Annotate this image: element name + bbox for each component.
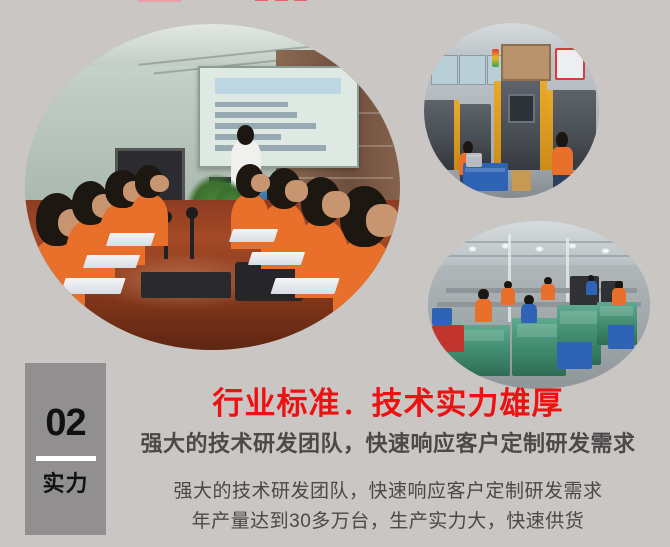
body-line: 年产量达到30多万台，生产实力大，快速供货 bbox=[106, 507, 670, 537]
decoration-dash bbox=[275, 0, 288, 1]
badge-label: 实力 bbox=[42, 473, 88, 495]
body-text: 强大的技术研发团队，快速响应客户定制研发需求 年产量达到30多万台，生产实力大，… bbox=[106, 477, 670, 537]
decoration-dash bbox=[255, 0, 268, 1]
subheadline: 强大的技术研发团队，快速响应客户定制研发需求 bbox=[106, 433, 670, 455]
top-decoration-dashes bbox=[255, 0, 307, 1]
section-text-block: 行业标准．技术实力雄厚 强大的技术研发团队，快速响应客户定制研发需求 强大的技术… bbox=[106, 363, 670, 541]
decoration-dash bbox=[294, 0, 307, 1]
photo-meeting-room-training bbox=[25, 24, 400, 350]
headline: 行业标准．技术实力雄厚 bbox=[106, 388, 670, 419]
body-line: 强大的技术研发团队，快速响应客户定制研发需求 bbox=[106, 477, 670, 507]
badge-divider bbox=[36, 456, 96, 461]
headline-right-text: 技术实力雄厚 bbox=[372, 386, 564, 421]
badge-number: 02 bbox=[45, 404, 85, 442]
section-number-badge: 02 实力 bbox=[25, 363, 106, 535]
top-decoration-bar bbox=[138, 0, 181, 2]
promo-banner: 02 实力 行业标准．技术实力雄厚 强大的技术研发团队，快速响应客户定制研发需求… bbox=[0, 0, 670, 547]
headline-separator-dot: ． bbox=[340, 390, 371, 420]
headline-left-text: 行业标准 bbox=[212, 386, 340, 421]
photo-cnc-machine-shop bbox=[424, 23, 599, 198]
